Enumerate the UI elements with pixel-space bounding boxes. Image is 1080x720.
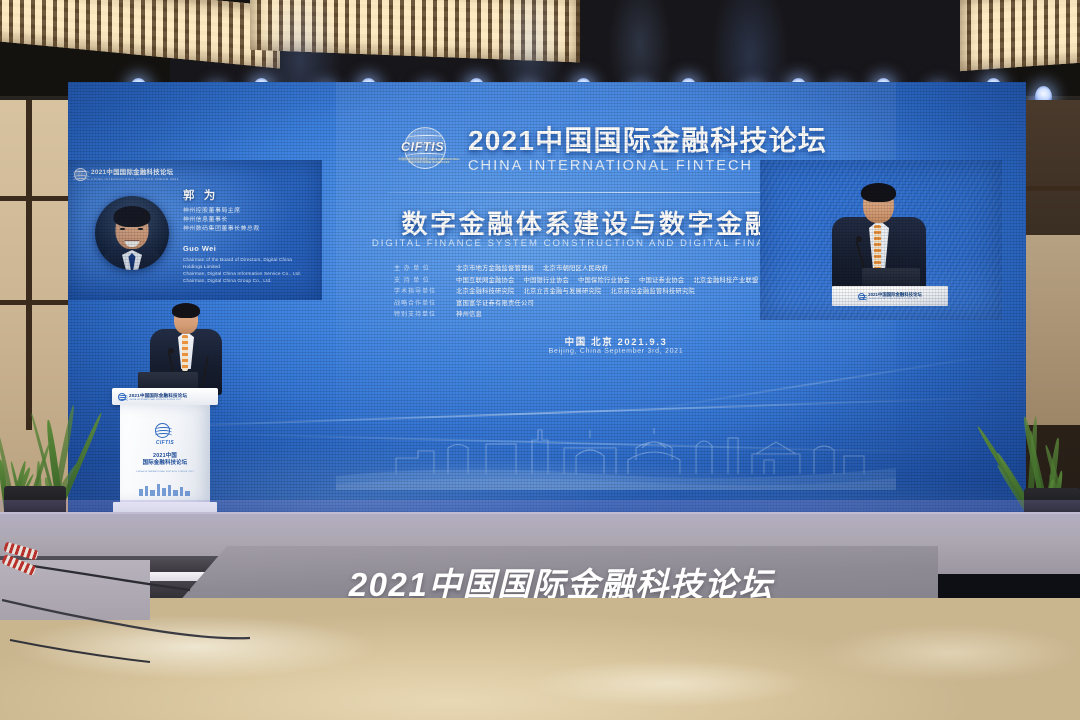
- speaker-titles-en: Chairman of the Board of Directors, Digi…: [183, 256, 315, 284]
- organizer-name: 北京金融科技产业联盟: [693, 277, 758, 284]
- organizer-name: 富国富华证券有限责任公司: [456, 300, 534, 307]
- speaker-portrait: [95, 196, 169, 270]
- wall-trim: [1026, 186, 1080, 191]
- speaker-title-en-line: Chairman, Digital China Information Serv…: [183, 270, 315, 277]
- speaker-card-header-cn: 2021中国国际金融科技论坛: [91, 167, 179, 176]
- ciftis-globe-icon: CIFTIS 中国国际服务贸易交易会 CHINA INTERNATIONAL F…: [398, 127, 460, 175]
- wall-trim: [0, 300, 70, 305]
- laptop-on-podium: [138, 372, 198, 389]
- organizer-name: 北京金融科技研究院: [456, 288, 514, 295]
- speaker-title-en-line: Chairman, Digital China Group Co., Ltd.: [183, 277, 315, 284]
- ciftis-globe-icon: [154, 423, 176, 439]
- podium-emblem-logo-text: CIFTIS: [130, 440, 200, 446]
- organizer-name: 北京市朝阳区人民政府: [543, 265, 608, 272]
- speaker-titles-cn: 神州控股董事局主席神州信息董事长神州数码集团董事长兼总裁: [183, 207, 315, 235]
- led-backdrop-screen: CIFTIS 中国国际服务贸易交易会 CHINA INTERNATIONAL F…: [68, 82, 1026, 518]
- podium-emblem-en: CHINA INTERNATIONAL FINTECH FORUM 2021: [130, 471, 200, 473]
- speaker-card-header: 2021中国国际金融科技论坛 CHINA INTERNATIONAL FINTE…: [74, 167, 179, 181]
- podium-emblem-cn-line2: 国际金融科技论坛: [130, 460, 200, 467]
- ciftis-mini-logo-icon: [858, 293, 865, 300]
- speaker-name-cn: 郭 为: [183, 190, 315, 203]
- ceiling-light-grid-panel: [960, 0, 1080, 71]
- speaker-title-cn-line: 神州控股董事局主席: [183, 207, 315, 216]
- podium: 2021中国国际金融科技论坛 CHINA INTERNATIONAL FINTE…: [120, 388, 210, 520]
- organizer-name: 神州信息: [456, 311, 482, 318]
- speaker-info-card: 2021中国国际金融科技论坛 CHINA INTERNATIONAL FINTE…: [68, 160, 322, 300]
- speaker-title-cn-line: 神州数码集团董事长兼总裁: [183, 225, 315, 234]
- organizer-name: 北京前沿金融监管科技研究院: [610, 288, 694, 295]
- organizer-label: 特别支持单位: [394, 310, 456, 319]
- beijing-skyline-graphic: [336, 404, 896, 490]
- speaker-title-en-line: Chairman of the Board of Directors, Digi…: [183, 256, 315, 263]
- organizer-label: 支 持 单 位: [394, 276, 456, 285]
- video-podium-sign-en: CHINA INTERNATIONAL FINTECH FORUM 2021: [868, 298, 922, 300]
- microphone-head: [856, 236, 862, 242]
- organizer-name: 北京市地方金融监督管理局: [456, 265, 534, 272]
- speaker-card-header-en: CHINA INTERNATIONAL FINTECH FORUM 2021: [91, 177, 179, 181]
- video-podium-sign: 2021中国国际金融科技论坛 CHINA INTERNATIONAL FINTE…: [832, 286, 948, 306]
- speaker-name-en: Guo Wei: [183, 244, 315, 253]
- podium-sign-cn: 2021中国国际金融科技论坛: [129, 393, 187, 399]
- ciftis-mini-logo-icon: [118, 393, 126, 401]
- speaker-text-block: 郭 为 神州控股董事局主席神州信息董事长神州数码集团董事长兼总裁 Guo Wei…: [183, 190, 315, 284]
- organizer-label: 学术指导单位: [394, 287, 456, 296]
- ciftis-mini-logo-icon: [74, 168, 87, 181]
- event-date-cn: 中国 北京 2021.9.3: [565, 334, 668, 348]
- organizer-name: 中国银行业协会: [523, 277, 568, 284]
- ciftis-logo-text: CIFTIS: [401, 140, 444, 154]
- podium-skyline-graphic: [137, 482, 193, 496]
- organizer-name: 中国互联网金融协会: [456, 277, 514, 284]
- skyline-glow: [276, 430, 976, 490]
- live-video-feed: 2021中国国际金融科技论坛 CHINA INTERNATIONAL FINTE…: [760, 160, 1002, 320]
- forum-title-cn: 2021中国国际金融科技论坛: [468, 126, 869, 155]
- speaker-title-cn-line: 神州信息董事长: [183, 216, 315, 225]
- floor-cables: [0, 520, 360, 710]
- organizer-label: 战略合作单位: [394, 299, 456, 308]
- ceiling-light-grid-panel: [0, 0, 280, 68]
- event-date-en: Beijing, China September 3rd, 2021: [549, 348, 684, 355]
- wall-trim: [26, 100, 32, 430]
- podium-emblem: CIFTIS 2021中国 国际金融科技论坛 CHINA INTERNATION…: [130, 423, 200, 473]
- podium-body: CIFTIS 2021中国 国际金融科技论坛 CHINA INTERNATION…: [120, 405, 210, 502]
- organizer-name: 北京立言金融与发展研究院: [523, 288, 601, 295]
- organizer-label: 主 办 单 位: [394, 264, 456, 273]
- organizer-name: 中国保险行业协会: [578, 277, 630, 284]
- speaker-title-en-line: Holdings Limited: [183, 263, 315, 270]
- laptop-on-podium: [862, 268, 920, 287]
- microphone-head: [168, 348, 174, 354]
- wall-trim: [0, 196, 70, 201]
- conference-stage-photo: CIFTIS 中国国际服务贸易交易会 CHINA INTERNATIONAL F…: [0, 0, 1080, 720]
- podium-top-sign: 2021中国国际金融科技论坛 CHINA INTERNATIONAL FINTE…: [112, 388, 218, 405]
- podium-sign-en: CHINA INTERNATIONAL FINTECH FORUM 2021: [129, 399, 187, 401]
- ciftis-logo-subtitle: 中国国际服务贸易交易会 CHINA INTERNATIONAL FAIR FOR…: [398, 158, 460, 165]
- organizer-name: 中国证券业协会: [639, 277, 684, 284]
